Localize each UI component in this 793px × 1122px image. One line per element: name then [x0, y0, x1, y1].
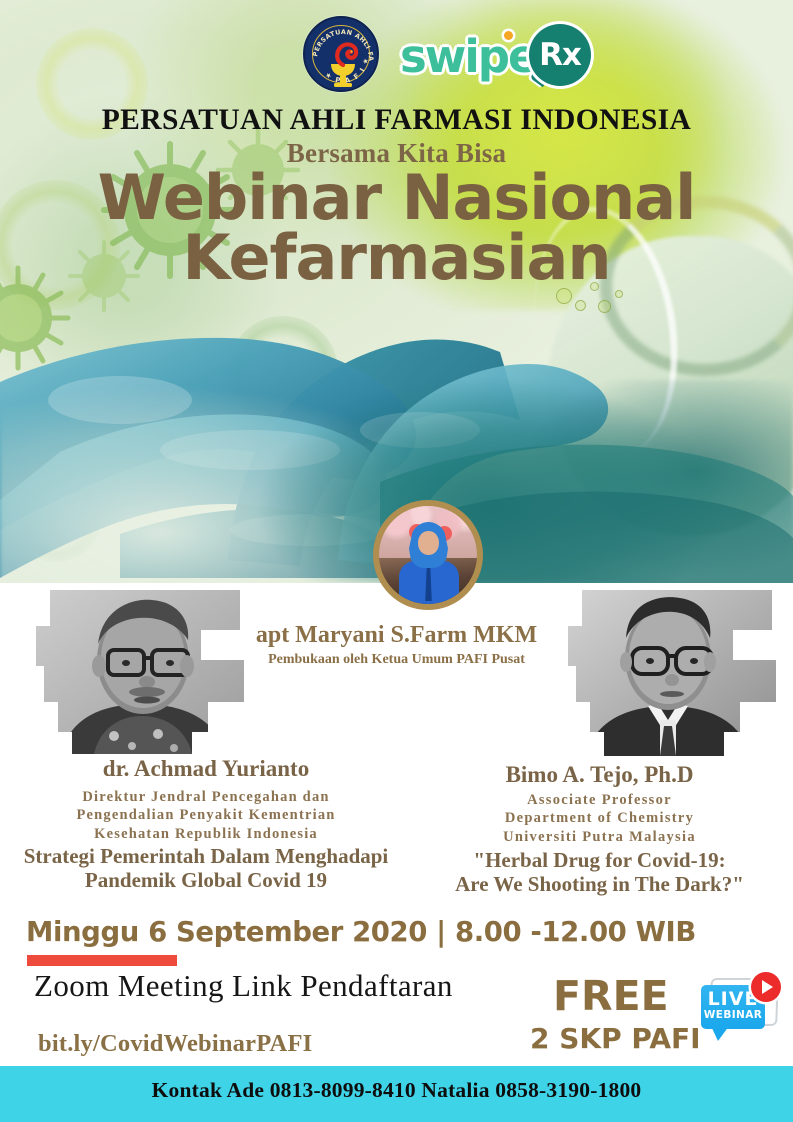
- affiliation-line: Department of Chemistry: [406, 809, 793, 828]
- avatar-face: [418, 531, 439, 555]
- swiperx-logo: swipe Rx: [400, 22, 590, 92]
- affiliation-line: Direktur Jendral Pencegahan dan: [0, 788, 412, 807]
- logo-row: PERSATUAN AHLI FARMASI INDONESIA ★ P A F…: [0, 6, 793, 92]
- registration-label: Zoom Meeting Link Pendaftaran: [34, 968, 453, 1004]
- event-datetime: Minggu 6 September 2020 | 8.00 -12.00 WI…: [26, 916, 696, 948]
- swiperx-wordmark: swipe: [400, 30, 537, 83]
- footer-bar: Kontak Ade 0813-8099-8410 Natalia 0858-3…: [0, 1066, 793, 1122]
- red-accent-bar: [27, 955, 177, 966]
- svg-text:PERSATUAN AHLI FARMASI INDONES: PERSATUAN AHLI FARMASI INDONESIA: [305, 18, 375, 62]
- title-line-2: Kefarmasian: [0, 228, 793, 288]
- affiliation-line: Kesehatan Republik Indonesia: [0, 825, 412, 844]
- topic-line: "Herbal Drug for Covid-19:: [406, 849, 793, 873]
- page-title: Webinar Nasional Kefarmasian: [0, 168, 793, 288]
- webinar-poster: PERSATUAN AHLI FARMASI INDONESIA ★ P A F…: [0, 0, 793, 1122]
- speaker-right-affiliation: Associate Professor Department of Chemis…: [406, 791, 793, 847]
- affiliation-line: Universiti Putra Malaysia: [406, 828, 793, 847]
- registration-link[interactable]: bit.ly/CovidWebinarPAFI: [38, 1030, 312, 1058]
- play-button-icon: [751, 972, 781, 1002]
- speaker-right-details: Bimo A. Tejo, Ph.D Associate Professor D…: [406, 762, 793, 897]
- speaker-right-name: Bimo A. Tejo, Ph.D: [406, 762, 793, 788]
- avatar-speaker-left: [28, 586, 258, 754]
- speaker-left-name: dr. Achmad Yurianto: [0, 756, 412, 782]
- affiliation-line: Pengendalian Penyakit Kementrian: [0, 806, 412, 825]
- speaker-right-topic: "Herbal Drug for Covid-19: Are We Shooti…: [406, 849, 793, 897]
- price-free-label: FREE: [553, 972, 669, 1020]
- avatar-photo: [379, 506, 477, 604]
- live-webinar-badge: LIVE WEBINAR: [697, 972, 785, 1046]
- live-badge-line2: WEBINAR: [701, 1009, 765, 1021]
- topic-line: Pandemik Global Covid 19: [0, 869, 412, 893]
- swiperx-dot-icon: [504, 31, 513, 40]
- topic-line: Are We Shooting in The Dark?": [406, 873, 793, 897]
- contact-info: Kontak Ade 0813-8099-8410 Natalia 0858-3…: [0, 1078, 793, 1103]
- avatar-speaker-right: [560, 586, 776, 756]
- rx-bubble-icon: Rx: [529, 24, 591, 86]
- topic-line: Strategi Pemerintah Dalam Menghadapi: [0, 845, 412, 869]
- speaker-left-affiliation: Direktur Jendral Pencegahan dan Pengenda…: [0, 788, 412, 844]
- speaker-left-details: dr. Achmad Yurianto Direktur Jendral Pen…: [0, 756, 412, 893]
- speaker-left-topic: Strategi Pemerintah Dalam Menghadapi Pan…: [0, 845, 412, 893]
- avatar-center-speaker: [373, 500, 483, 610]
- price-credits-label: 2 SKP PAFI: [530, 1022, 701, 1055]
- rx-label: Rx: [529, 24, 591, 86]
- pafi-logo-icon: PERSATUAN AHLI FARMASI INDONESIA ★ P A F…: [303, 16, 379, 92]
- organization-name: PERSATUAN AHLI FARMASI INDONESIA: [0, 104, 793, 137]
- affiliation-line: Associate Professor: [406, 791, 793, 810]
- right-speaker-photo: [560, 586, 776, 756]
- left-speaker-photo: [28, 586, 258, 754]
